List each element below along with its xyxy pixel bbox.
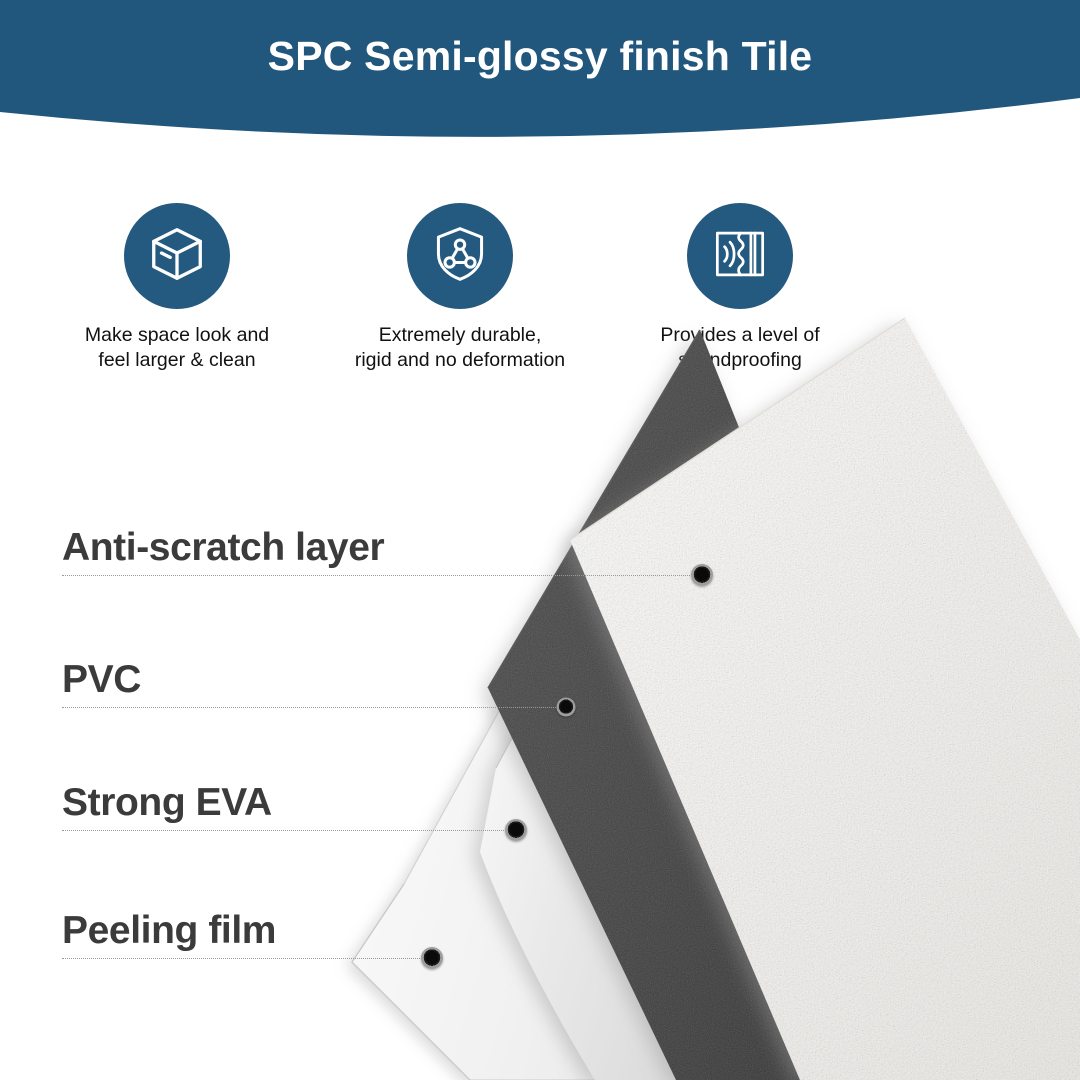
box-3d-icon [146,223,208,290]
shield-network-icon [430,224,490,289]
layer-shape-anti-scratch [570,318,1080,1080]
callout-dot [691,564,713,586]
feature-caption-line1: Make space look and [85,323,269,348]
page-title: SPC Semi-glossy finish Tile [0,0,1080,112]
feature-caption-line2: feel larger & clean [85,348,269,373]
layer-label: Peeling film [62,909,276,953]
leader-line [62,830,514,831]
feature-caption-line1: Extremely durable, [355,323,565,348]
layer-row-peeling-film: Peeling film [0,958,1080,959]
layer-label: Anti-scratch layer [62,526,384,570]
layer-row-eva: Strong EVA [0,830,1080,831]
callout-dot [505,819,527,841]
feature-icon-circle [124,203,230,309]
feature-caption: Make space look and feel larger & clean [85,323,269,373]
feature-item-durable: Extremely durable, rigid and no deformat… [310,203,610,373]
header-banner: SPC Semi-glossy finish Tile [0,0,1080,160]
feature-item-space: Make space look and feel larger & clean [27,203,327,373]
feature-caption-line1: Provides a level of [660,323,819,348]
feature-item-soundproof: Provides a level of soundproofing [590,203,890,373]
feature-caption-line2: soundproofing [660,348,819,373]
leader-line [62,958,426,959]
layer-label: PVC [62,658,141,702]
feature-row: Make space look and feel larger & clean [0,203,1080,383]
layer-shape-peeling-film [352,600,820,1080]
layer-row-pvc: PVC [0,707,1080,708]
feature-icon-circle [687,203,793,309]
leader-line [62,707,562,708]
layer-label: Strong EVA [62,781,272,825]
layer-row-anti-scratch: Anti-scratch layer [0,575,1080,576]
callout-dot [557,698,576,717]
feature-caption-line2: rigid and no deformation [355,348,565,373]
infographic-page: SPC Semi-glossy finish Tile Make space l… [0,0,1080,1080]
layer-shape-eva [480,506,905,1080]
leader-line [62,575,702,576]
callout-dot [421,947,443,969]
soundproof-panel-icon [711,225,769,288]
feature-caption: Provides a level of soundproofing [660,323,819,373]
feature-caption: Extremely durable, rigid and no deformat… [355,323,565,373]
feature-icon-circle [407,203,513,309]
